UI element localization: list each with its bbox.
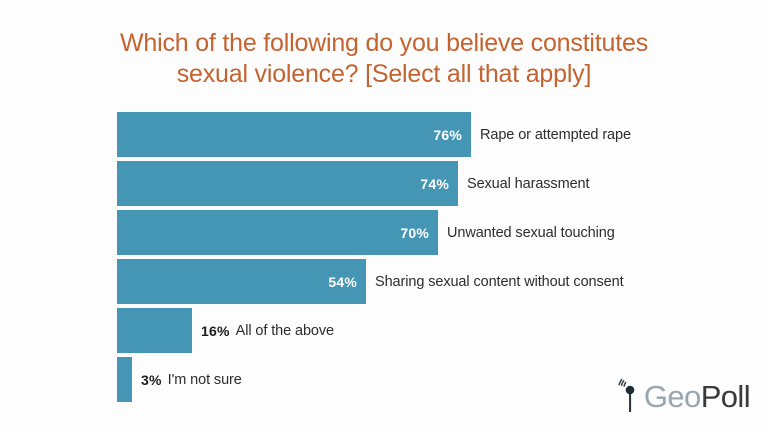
bar-row: 74% Sexual harassment xyxy=(117,161,757,206)
bar-value-label: 70% xyxy=(400,225,438,241)
bar-value-label: 16% xyxy=(192,323,230,339)
bar-unwanted-sexual-touching: 70% xyxy=(117,210,438,255)
bar-sharing-sexual-content-without-consent: 54% xyxy=(117,259,366,304)
bar-all-of-the-above xyxy=(117,308,192,353)
logo-wordmark: GeoPoll xyxy=(644,381,750,412)
bar-value-label: 54% xyxy=(328,274,366,290)
page-title: Which of the following do you believe co… xyxy=(0,28,768,90)
antenna-signal-icon xyxy=(617,379,643,413)
bar-category-label: I'm not sure xyxy=(162,372,242,388)
logo-word-poll: Poll xyxy=(701,379,750,414)
bar-row: 16% All of the above xyxy=(117,308,757,353)
bar-chart: 76% Rape or attempted rape 74% Sexual ha… xyxy=(117,112,757,407)
title-line-1: Which of the following do you believe co… xyxy=(0,28,768,59)
bar-im-not-sure xyxy=(117,357,132,402)
bar-value-label: 3% xyxy=(132,372,162,388)
geopoll-logo: GeoPoll xyxy=(617,376,750,416)
bar-rape-or-attempted-rape: 76% xyxy=(117,112,471,157)
bar-value-label: 76% xyxy=(433,127,471,143)
bar-row: 54% Sharing sexual content without conse… xyxy=(117,259,757,304)
bar-category-label: All of the above xyxy=(230,323,334,339)
title-line-2: sexual violence? [Select all that apply] xyxy=(0,59,768,90)
bar-category-label: Sharing sexual content without consent xyxy=(366,274,624,290)
bar-row: 76% Rape or attempted rape xyxy=(117,112,757,157)
slide-canvas: Which of the following do you believe co… xyxy=(0,0,768,432)
bar-value-label: 74% xyxy=(420,176,458,192)
logo-word-geo: Geo xyxy=(644,379,701,414)
bar-category-label: Rape or attempted rape xyxy=(471,127,631,143)
bar-sexual-harassment: 74% xyxy=(117,161,458,206)
bar-category-label: Unwanted sexual touching xyxy=(438,225,615,241)
bar-category-label: Sexual harassment xyxy=(458,176,589,192)
bar-row: 70% Unwanted sexual touching xyxy=(117,210,757,255)
